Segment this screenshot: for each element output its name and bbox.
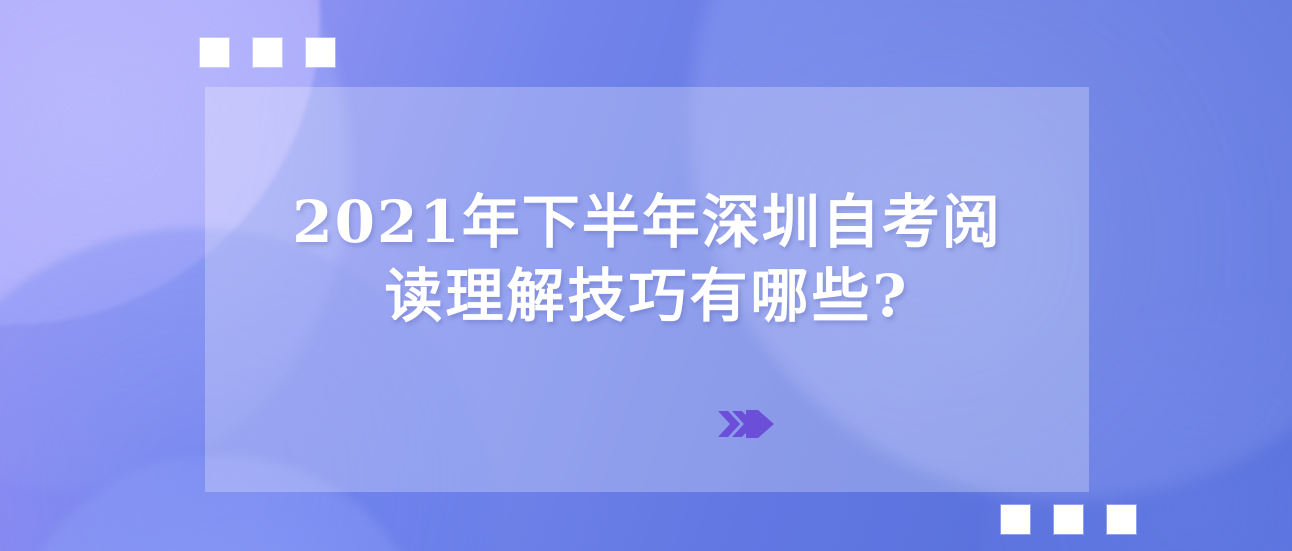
square-marker-icon [1054,505,1083,534]
square-marker-icon [306,38,335,67]
square-marker-icon [200,38,229,67]
title-line-2: 读理解技巧有哪些? [205,259,1089,333]
square-marker-icon [1107,505,1136,534]
square-marker-group-top [200,38,335,67]
square-marker-icon [253,38,282,67]
square-marker-icon [1001,505,1030,534]
banner-graphic: 2021年下半年深圳自考阅 读理解技巧有哪些? [0,0,1292,551]
double-chevron-right-icon [718,409,776,439]
title-line-1: 2021年下半年深圳自考阅 [205,185,1089,259]
banner-title: 2021年下半年深圳自考阅 读理解技巧有哪些? [205,185,1089,333]
square-marker-group-bottom [1001,505,1136,534]
